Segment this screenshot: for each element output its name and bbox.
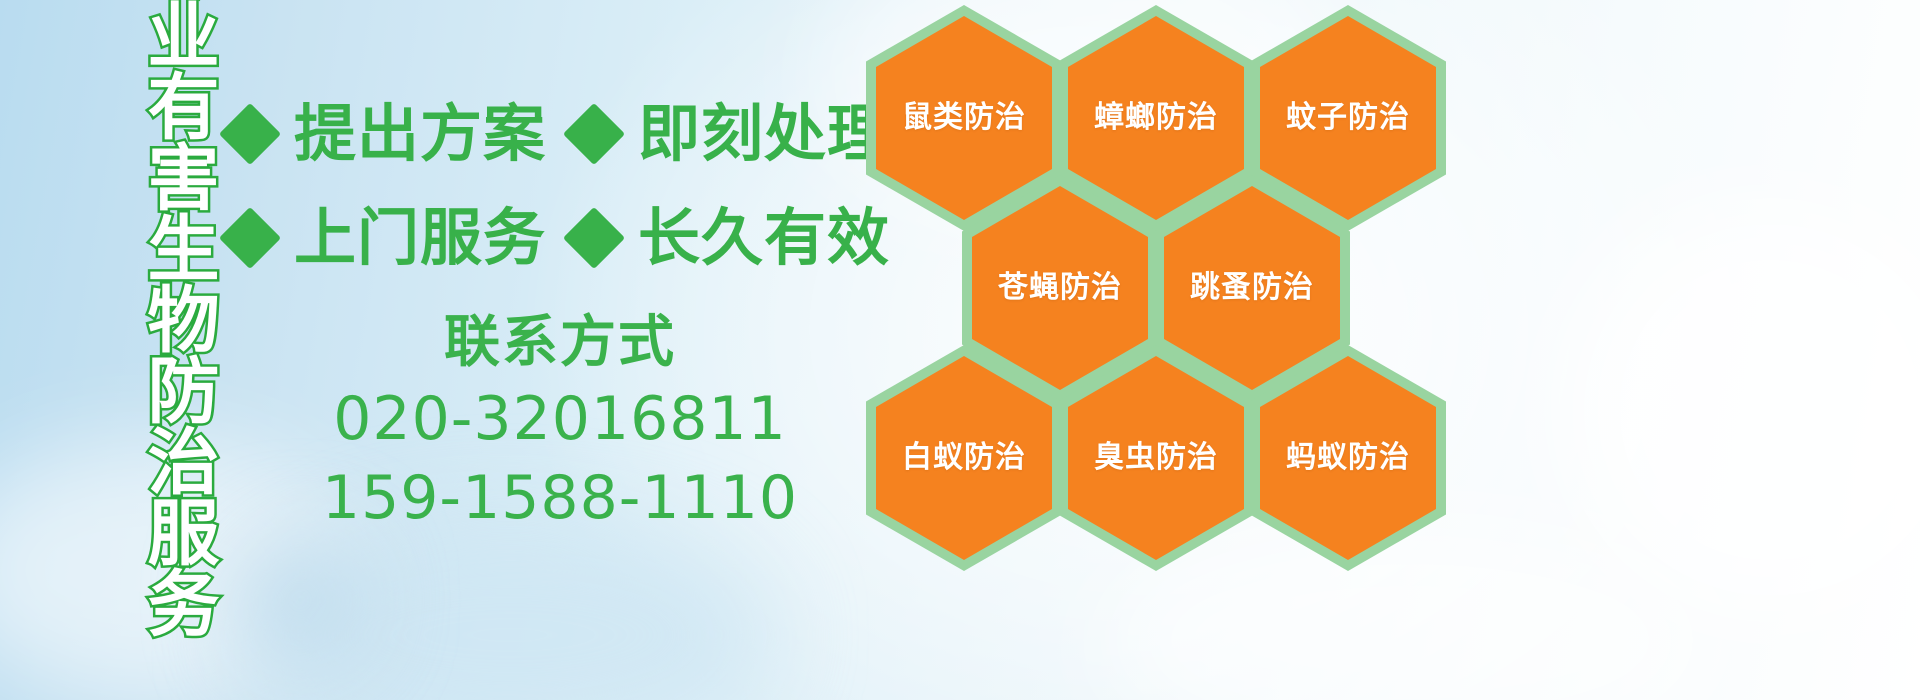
feature-row-1: 提出方案 即刻处理: [228, 82, 868, 186]
diamond-bullet-icon: [219, 207, 281, 269]
hex-label: 跳蚤防治: [1190, 273, 1314, 303]
hex-inner: 蚊子防治: [1260, 16, 1436, 220]
feature-label: 长久有效: [638, 207, 890, 269]
feature-row-2: 上门服务 长久有效: [228, 186, 868, 290]
background-blur-blob: [240, 540, 360, 660]
hex-inner: 跳蚤防治: [1164, 186, 1340, 390]
hex-inner: 鼠类防治: [876, 16, 1052, 220]
hex-label: 鼠类防治: [902, 103, 1026, 133]
hex-inner: 蚂蚁防治: [1260, 356, 1436, 560]
feature-list: 提出方案 即刻处理 上门服务 长久有效: [228, 82, 868, 290]
hex-label: 蟑螂防治: [1094, 103, 1218, 133]
feature-label: 即刻处理: [638, 103, 890, 165]
hex-inner: 白蚁防治: [876, 356, 1052, 560]
diamond-bullet-icon: [563, 207, 625, 269]
hex-label: 苍蝇防治: [998, 273, 1122, 303]
feature-label: 上门服务: [294, 207, 546, 269]
contact-phone-mobile[interactable]: 159-1588-1110: [300, 459, 820, 538]
background-blur-blob: [250, 520, 770, 700]
hex-label: 白蚁防治: [902, 443, 1026, 473]
feature-label: 提出方案: [294, 103, 546, 165]
diamond-bullet-icon: [219, 103, 281, 165]
vertical-headline: 专业有害生物防治服务: [106, 8, 214, 556]
pest-control-banner: 专业有害生物防治服务 提出方案 即刻处理 上门服务 长久有效 联系方式 020-…: [0, 0, 1920, 700]
contact-title: 联系方式: [300, 312, 820, 374]
hex-label: 蚂蚁防治: [1286, 443, 1410, 473]
hex-inner: 苍蝇防治: [972, 186, 1148, 390]
hex-label: 臭虫防治: [1094, 443, 1218, 473]
background-blur-blob: [1560, 200, 1920, 620]
contact-block: 联系方式 020-32016811 159-1588-1110: [300, 312, 820, 538]
diamond-bullet-icon: [563, 103, 625, 165]
hex-inner: 蟑螂防治: [1068, 16, 1244, 220]
hex-inner: 臭虫防治: [1068, 356, 1244, 560]
contact-phone-landline[interactable]: 020-32016811: [300, 380, 820, 459]
service-honeycomb: 鼠类防治 蟑螂防治 蚊子防治 苍蝇防治 跳蚤防治 白蚁防治: [856, 0, 1456, 560]
hex-label: 蚊子防治: [1286, 103, 1410, 133]
